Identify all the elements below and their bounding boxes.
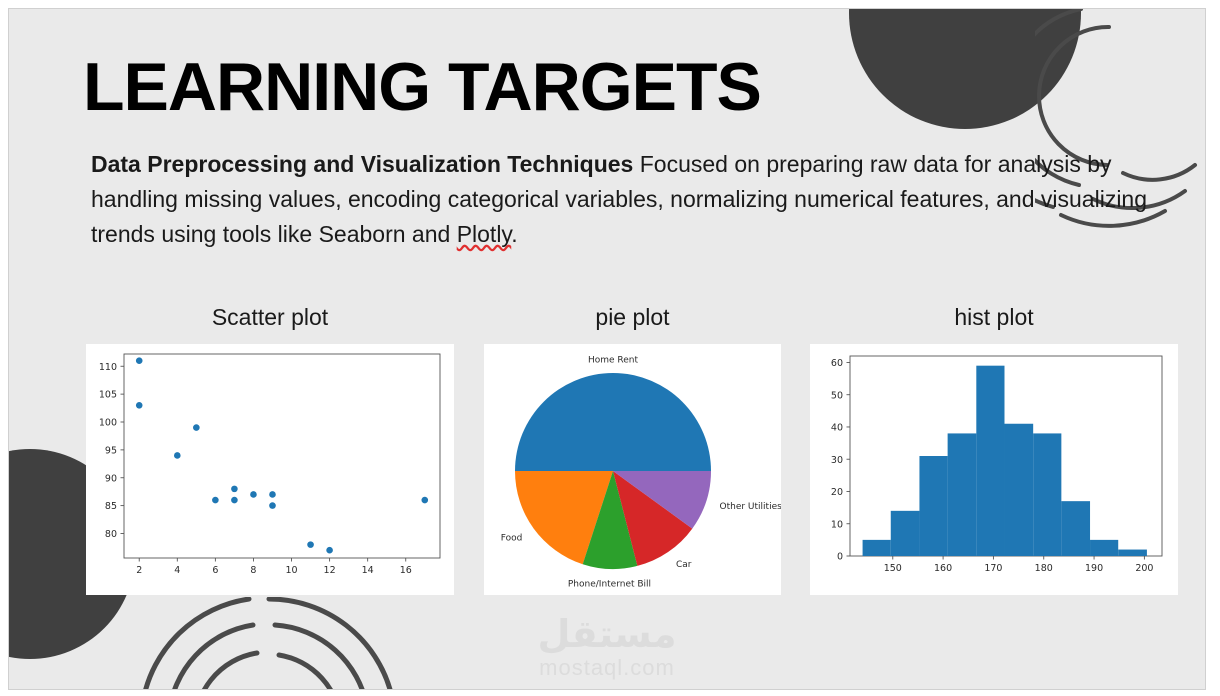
- svg-text:6: 6: [212, 565, 218, 576]
- slide: LEARNING TARGETS Data Preprocessing and …: [8, 8, 1206, 690]
- hist-plot-figure: 0102030405060150160170180190200: [810, 344, 1178, 595]
- svg-text:105: 105: [99, 390, 117, 401]
- svg-text:150: 150: [884, 563, 902, 574]
- svg-text:60: 60: [831, 358, 843, 369]
- svg-text:90: 90: [105, 473, 117, 484]
- svg-text:85: 85: [105, 501, 117, 512]
- svg-text:16: 16: [400, 565, 412, 576]
- svg-text:50: 50: [831, 390, 843, 401]
- watermark-latin: mostaql.com: [9, 655, 1205, 681]
- svg-text:170: 170: [984, 563, 1002, 574]
- pie-plot-figure: Home RentFoodPhone/Internet BillCarOther…: [484, 344, 781, 595]
- svg-text:110: 110: [99, 362, 117, 373]
- body-paragraph: Data Preprocessing and Visualization Tec…: [91, 147, 1151, 252]
- scatter-plot-title: Scatter plot: [86, 304, 454, 331]
- svg-text:180: 180: [1035, 563, 1053, 574]
- svg-text:40: 40: [831, 423, 843, 434]
- svg-text:10: 10: [285, 565, 297, 576]
- svg-text:14: 14: [362, 565, 374, 576]
- svg-text:160: 160: [934, 563, 952, 574]
- svg-text:0: 0: [837, 552, 843, 563]
- svg-text:80: 80: [105, 529, 117, 540]
- svg-text:2: 2: [136, 565, 142, 576]
- body-text-tail: .: [511, 221, 517, 247]
- svg-text:Other Utilities: Other Utilities: [720, 502, 781, 512]
- hist-plot-card: 0102030405060150160170180190200: [810, 344, 1178, 595]
- misspelled-word: Plotly: [457, 221, 512, 247]
- svg-text:100: 100: [99, 418, 117, 429]
- page-title: LEARNING TARGETS: [83, 53, 761, 121]
- svg-text:200: 200: [1135, 563, 1153, 574]
- hist-plot-title: hist plot: [810, 304, 1178, 331]
- svg-text:190: 190: [1085, 563, 1103, 574]
- svg-text:Car: Car: [676, 560, 692, 570]
- svg-text:Home Rent: Home Rent: [588, 356, 639, 366]
- svg-text:4: 4: [174, 565, 180, 576]
- svg-text:95: 95: [105, 445, 117, 456]
- pie-plot-card: Home RentFoodPhone/Internet BillCarOther…: [484, 344, 781, 595]
- body-bold-lead: Data Preprocessing and Visualization Tec…: [91, 151, 633, 177]
- watermark-arabic: مستقل: [9, 613, 1205, 655]
- decorative-rings-bottom-left: [129, 597, 409, 690]
- svg-text:Food: Food: [501, 533, 523, 543]
- svg-text:20: 20: [831, 487, 843, 498]
- svg-text:12: 12: [324, 565, 336, 576]
- svg-text:8: 8: [250, 565, 256, 576]
- pie-plot-title: pie plot: [484, 304, 781, 331]
- scatter-plot-card: 80859095100105110246810121416: [86, 344, 454, 595]
- svg-text:10: 10: [831, 519, 843, 530]
- scatter-plot-figure: 80859095100105110246810121416: [86, 344, 454, 595]
- watermark: مستقل mostaql.com: [9, 613, 1205, 681]
- decorative-circle-top-right: [849, 8, 1081, 129]
- svg-text:30: 30: [831, 455, 843, 466]
- svg-text:Phone/Internet Bill: Phone/Internet Bill: [568, 579, 651, 589]
